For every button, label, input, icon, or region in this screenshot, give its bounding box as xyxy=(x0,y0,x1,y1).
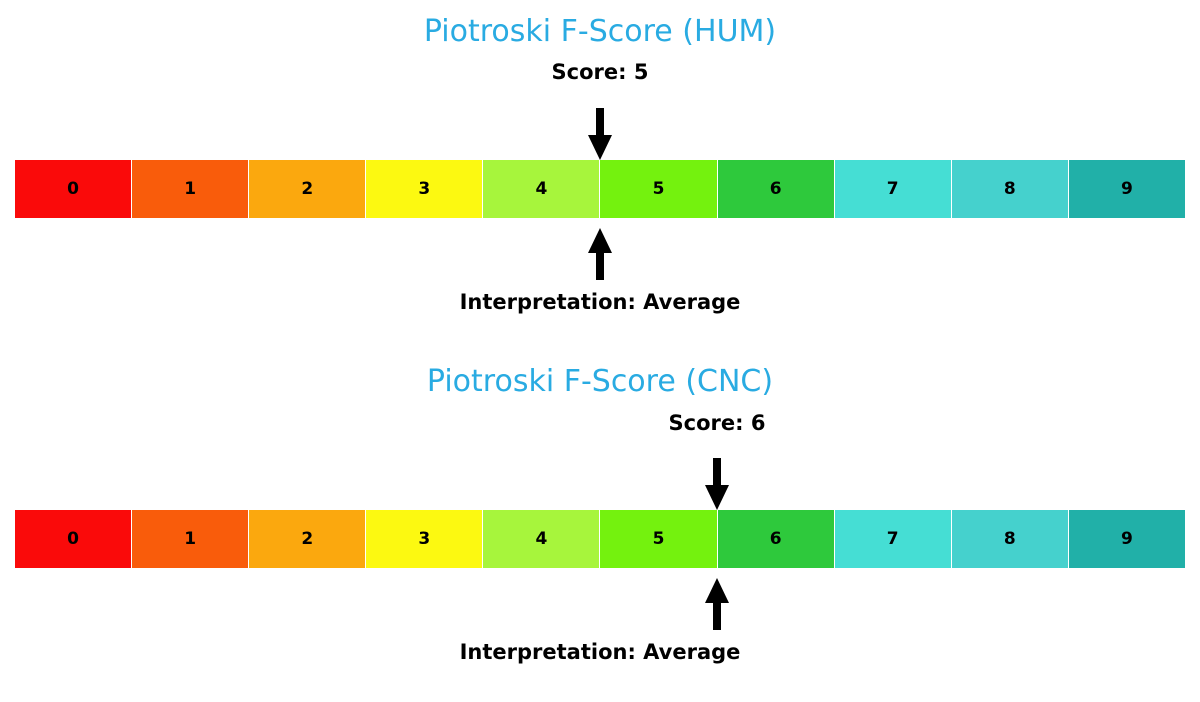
score-segment-4[interactable]: 4 xyxy=(483,160,600,218)
score-arrow-down-cnc xyxy=(704,458,730,510)
score-segment-label: 2 xyxy=(301,531,313,548)
score-segment-label: 9 xyxy=(1121,181,1133,198)
chart-title-cnc: Piotroski F-Score (CNC) xyxy=(0,364,1200,399)
score-segment-2[interactable]: 2 xyxy=(249,160,366,218)
score-segment-label: 2 xyxy=(301,181,313,198)
score-segment-8[interactable]: 8 xyxy=(952,160,1069,218)
score-arrow-down-hum xyxy=(587,108,613,160)
score-segment-3[interactable]: 3 xyxy=(366,510,483,568)
score-segment-label: 5 xyxy=(653,181,665,198)
score-segment-7[interactable]: 7 xyxy=(835,160,952,218)
score-segment-1[interactable]: 1 xyxy=(132,160,249,218)
score-segment-5[interactable]: 5 xyxy=(600,510,717,568)
gauge-chart-hum: Piotroski F-Score (HUM) Score: 5 0 1 2 3… xyxy=(0,0,1200,340)
score-segment-label: 0 xyxy=(67,181,79,198)
score-segment-label: 7 xyxy=(887,181,899,198)
score-segment-6[interactable]: 6 xyxy=(718,160,835,218)
score-segment-7[interactable]: 7 xyxy=(835,510,952,568)
score-segment-label: 1 xyxy=(184,181,196,198)
score-segment-label: 6 xyxy=(770,181,782,198)
score-bar-hum: 0 1 2 3 4 5 6 7 8 9 xyxy=(15,160,1185,218)
interpretation-arrow-up-cnc xyxy=(704,578,730,630)
score-segment-8[interactable]: 8 xyxy=(952,510,1069,568)
interpretation-arrow-up-hum xyxy=(587,228,613,280)
chart-title-hum: Piotroski F-Score (HUM) xyxy=(0,14,1200,49)
score-segment-label: 9 xyxy=(1121,531,1133,548)
score-segment-label: 7 xyxy=(887,531,899,548)
score-segment-label: 8 xyxy=(1004,531,1016,548)
score-segment-label: 3 xyxy=(418,531,430,548)
score-segment-label: 0 xyxy=(67,531,79,548)
score-segment-3[interactable]: 3 xyxy=(366,160,483,218)
score-segment-4[interactable]: 4 xyxy=(483,510,600,568)
score-segment-label: 8 xyxy=(1004,181,1016,198)
score-bar-cnc: 0 1 2 3 4 5 6 7 8 9 xyxy=(15,510,1185,568)
score-segment-9[interactable]: 9 xyxy=(1069,160,1185,218)
score-segment-label: 4 xyxy=(536,531,548,548)
score-segment-label: 3 xyxy=(418,181,430,198)
score-segment-label: 4 xyxy=(536,181,548,198)
gauge-chart-cnc: Piotroski F-Score (CNC) Score: 6 0 1 2 3… xyxy=(0,350,1200,702)
score-segment-label: 5 xyxy=(653,531,665,548)
score-label-cnc: Score: 6 xyxy=(669,411,766,435)
score-segment-0[interactable]: 0 xyxy=(15,160,132,218)
score-segment-9[interactable]: 9 xyxy=(1069,510,1185,568)
score-segment-0[interactable]: 0 xyxy=(15,510,132,568)
score-segment-label: 1 xyxy=(184,531,196,548)
interpretation-label-hum: Interpretation: Average xyxy=(460,290,741,314)
score-segment-6[interactable]: 6 xyxy=(718,510,835,568)
score-label-hum: Score: 5 xyxy=(552,60,649,84)
interpretation-label-cnc: Interpretation: Average xyxy=(460,640,741,664)
score-segment-label: 6 xyxy=(770,531,782,548)
score-segment-1[interactable]: 1 xyxy=(132,510,249,568)
score-segment-5[interactable]: 5 xyxy=(600,160,717,218)
score-segment-2[interactable]: 2 xyxy=(249,510,366,568)
